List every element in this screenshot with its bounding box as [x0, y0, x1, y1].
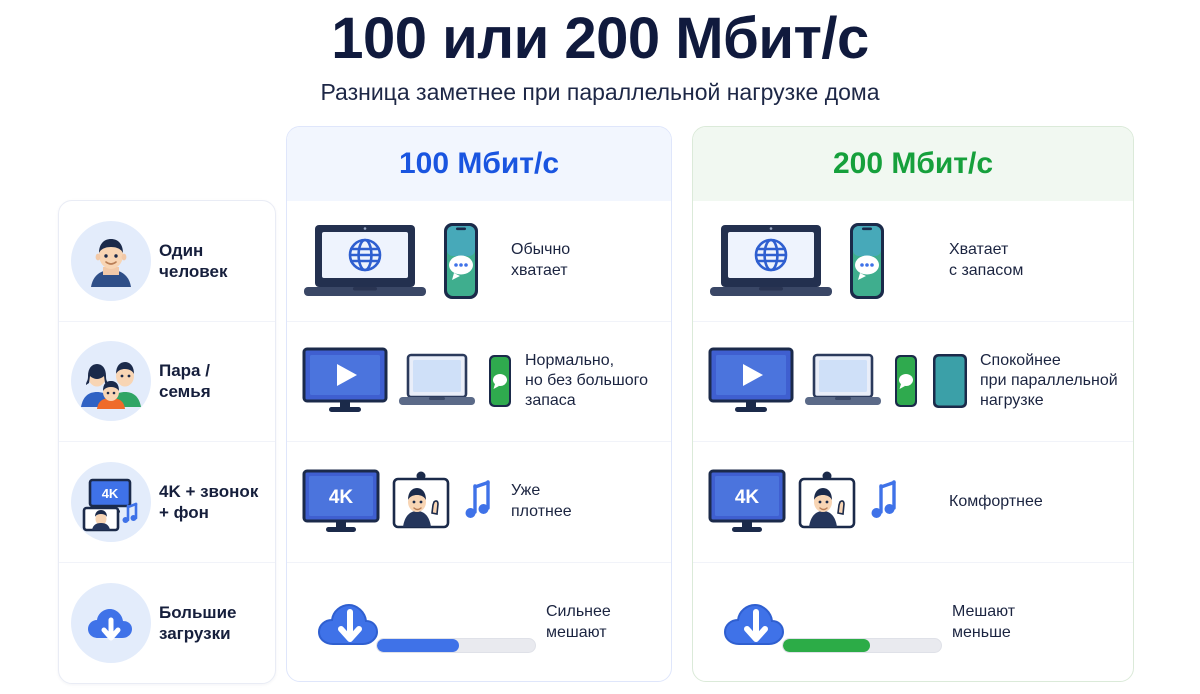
cell-200-4k-call-background: 4K — [693, 442, 1133, 563]
speed-card-100-body: Обычно хватает — [287, 201, 671, 682]
cell-100-4k-call-background: 4K — [287, 442, 671, 563]
cell-100-one-person: Обычно хватает — [287, 201, 671, 322]
family-avatar-icon — [71, 341, 151, 421]
device-group: 4K — [301, 468, 501, 536]
verdict-text: Спокойнее при параллельной нагрузке — [970, 351, 1118, 412]
progress-fill — [377, 639, 459, 652]
svg-text:4K: 4K — [102, 486, 119, 501]
phone-green-icon — [891, 352, 921, 410]
progress-fill — [783, 639, 870, 652]
device-group — [301, 592, 536, 654]
laptop-icon — [804, 350, 882, 412]
scenario-label: Большие загрузки — [159, 602, 237, 645]
infographic-root: 100 или 200 Мбит/с Разница заметнее при … — [0, 0, 1200, 694]
scenario-row-one-person: Один человек — [59, 201, 275, 322]
verdict-text: Комфортнее — [939, 492, 1043, 512]
device-group — [707, 219, 939, 303]
verdict-text: Сильнее мешают — [536, 602, 611, 643]
scenario-row-4k-call-background: 4K 4K + звонок + фон — [59, 442, 275, 563]
cloud-download-icon — [71, 583, 151, 663]
cell-100-large-downloads: Сильнее мешают — [287, 563, 671, 683]
laptop-icon — [398, 350, 476, 412]
scenario-column: Один человек — [58, 200, 276, 684]
laptop-globe-icon — [301, 219, 429, 303]
music-note-icon — [867, 478, 903, 526]
cell-200-couple-family: Спокойнее при параллельной нагрузке — [693, 322, 1133, 443]
scenario-label: 4K + звонок + фон — [159, 481, 258, 524]
speed-card-100-title: 100 Мбит/с — [287, 127, 671, 201]
single-person-avatar-icon — [71, 221, 151, 301]
verdict-text: Мешают меньше — [942, 602, 1015, 643]
scenario-row-couple-family: Пара / семья — [59, 322, 275, 443]
progress-track — [376, 638, 536, 653]
tv-play-icon — [301, 346, 389, 416]
tv-4k-label: 4K — [735, 487, 760, 508]
videocall-window-icon — [796, 468, 858, 536]
device-group: 4K — [707, 468, 939, 536]
speed-card-200: 200 Мбит/с — [692, 126, 1134, 682]
verdict-text: Обычно хватает — [501, 240, 570, 281]
verdict-text: Хватает с запасом — [939, 240, 1023, 281]
phone-chat-icon — [844, 219, 890, 303]
progress-bar — [776, 638, 942, 653]
device-group — [707, 346, 970, 416]
tv-4k-videocall-music-icon: 4K — [71, 462, 151, 542]
speed-card-200-body: Хватает с запасом — [693, 201, 1133, 682]
scenario-label: Один человек — [159, 240, 265, 283]
device-group — [301, 346, 515, 416]
speed-card-200-title: 200 Мбит/с — [693, 127, 1133, 201]
cell-200-large-downloads: Мешают меньше — [693, 563, 1133, 683]
videocall-window-icon — [390, 468, 452, 536]
page-title: 100 или 200 Мбит/с — [0, 8, 1200, 71]
cell-200-one-person: Хватает с запасом — [693, 201, 1133, 322]
phone-green-icon — [485, 352, 515, 410]
tablet-teal-icon — [930, 350, 970, 412]
verdict-text: Нормально, но без большого запаса — [515, 351, 648, 412]
cell-100-couple-family: Нормально, но без большого запаса — [287, 322, 671, 443]
device-group — [707, 592, 942, 654]
tv-4k-label: 4K — [329, 487, 354, 508]
laptop-globe-icon — [707, 219, 835, 303]
music-note-icon — [461, 478, 497, 526]
scenario-label: Пара / семья — [159, 360, 211, 403]
progress-bar — [370, 638, 536, 653]
tv-4k-icon: 4K — [301, 468, 381, 536]
device-group — [301, 219, 501, 303]
tv-4k-icon: 4K — [707, 468, 787, 536]
scenario-row-large-downloads: Большие загрузки — [59, 563, 275, 684]
verdict-text: Уже плотнее — [501, 481, 572, 522]
speed-card-100: 100 Мбит/с — [286, 126, 672, 682]
progress-track — [782, 638, 942, 653]
page-header: 100 или 200 Мбит/с Разница заметнее при … — [0, 0, 1200, 106]
page-subtitle: Разница заметнее при параллельной нагруз… — [0, 79, 1200, 106]
phone-chat-icon — [438, 219, 484, 303]
tv-play-icon — [707, 346, 795, 416]
